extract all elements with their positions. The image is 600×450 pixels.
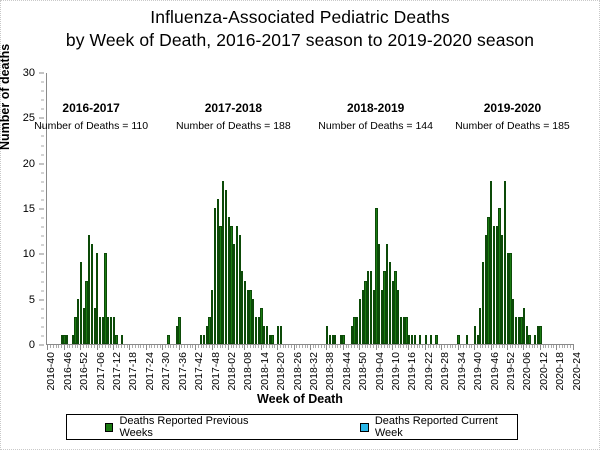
x-tick-mark [127,345,128,348]
x-tick-mark [313,345,314,348]
x-tick-mark [64,345,65,350]
x-tick-mark [403,345,404,348]
season-name: 2016-2017 [11,101,171,115]
y-tick-minor [41,181,44,182]
season-death-count: Number of Deaths = 185 [432,120,592,132]
x-tick-mark [143,345,144,348]
x-tick-mark [220,345,221,348]
x-tick-mark [50,345,51,348]
x-tick-label: 2019-46 [489,352,501,391]
x-tick-mark [340,345,341,348]
x-tick-mark [67,345,68,348]
x-tick-mark [77,345,78,348]
x-tick-mark [537,345,538,348]
x-tick-mark [121,345,122,348]
x-tick-mark [545,345,546,348]
x-tick-mark [430,345,431,348]
y-tick-minor [41,190,44,191]
x-tick-mark [471,345,472,348]
y-tick-label: 15 [23,203,35,215]
x-tick-mark [570,345,571,348]
season-annotation-2017-2018: 2017-2018 Number of Deaths = 188 [153,101,313,132]
bar [539,326,541,344]
x-tick-mark [242,345,243,348]
x-tick-mark [209,345,210,348]
x-tick-mark [502,345,503,348]
x-tick-mark [299,345,300,348]
x-tick-mark [439,345,440,348]
season-name: 2017-2018 [153,101,313,115]
x-tick-mark [266,345,267,348]
x-tick-mark [116,345,117,348]
x-tick-mark [477,345,478,348]
bar [414,335,416,344]
x-tick-label: 2016-40 [45,352,57,391]
bar [167,335,169,344]
x-tick-mark [395,345,396,348]
x-tick-label: 2017-18 [127,352,139,391]
x-tick-mark [447,345,448,348]
x-tick-mark [236,345,237,348]
x-tick-mark [118,345,119,348]
x-tick-mark [272,345,273,348]
season-death-count: Number of Deaths = 188 [153,120,313,132]
x-tick-mark [72,345,73,348]
bar [528,335,530,344]
x-tick-mark [244,345,245,350]
x-tick-mark [146,345,147,350]
x-tick-mark [351,345,352,348]
legend-swatch-green-icon [105,423,113,432]
x-tick-mark [173,345,174,348]
x-tick-mark [228,345,229,350]
x-tick-mark [217,345,218,348]
x-tick-mark [346,345,347,348]
y-tick-minor [41,335,44,336]
x-tick-mark [469,345,470,348]
y-tick-minor [41,145,44,146]
x-tick-mark [261,345,262,350]
x-tick-mark [463,345,464,348]
x-tick-mark [110,345,111,348]
x-tick-mark [91,345,92,348]
x-tick-mark [376,345,377,350]
x-tick-label: 2018-38 [324,352,336,391]
x-tick-mark [337,345,338,348]
x-tick-mark [176,345,177,348]
y-tick-minor [41,172,44,173]
legend-item-current-week: Deaths Reported Current Week [360,415,517,439]
x-tick-label: 2017-24 [144,352,156,391]
chart-title-line2: by Week of Death, 2016-2017 season to 20… [0,29,600,52]
x-tick-mark [387,345,388,348]
x-tick-mark [61,345,62,348]
bar [66,335,68,344]
x-tick-mark [510,345,511,348]
x-tick-mark [291,345,292,348]
x-tick-mark [288,345,289,348]
x-tick-mark [357,345,358,348]
x-tick-mark [529,345,530,348]
bar [466,335,468,344]
x-tick-mark [381,345,382,348]
x-tick-label: 2016-52 [78,352,90,391]
x-tick-mark [310,345,311,350]
x-tick-mark [305,345,306,348]
x-tick-mark [97,345,98,350]
x-tick-mark [113,345,114,350]
x-tick-mark [108,345,109,348]
x-tick-mark [436,345,437,348]
x-tick-mark [480,345,481,348]
chart-legend: Deaths Reported Previous Weeks Deaths Re… [66,414,518,440]
x-tick-label: 2019-40 [472,352,484,391]
y-tick-label: 5 [29,294,35,306]
x-tick-mark [562,345,563,348]
x-tick-mark [274,345,275,348]
y-tick-mark [39,73,44,74]
x-tick-mark [307,345,308,348]
bar [430,335,432,344]
x-tick-label: 2020-12 [538,352,550,391]
x-tick-label: 2017-48 [210,352,222,391]
x-tick-mark [370,345,371,348]
y-tick-minor [41,218,44,219]
x-tick-mark [203,345,204,348]
season-name: 2019-2020 [432,101,592,115]
x-tick-mark [247,345,248,348]
x-tick-mark [105,345,106,348]
x-tick-mark [564,345,565,348]
x-tick-mark [184,345,185,348]
x-tick-mark [88,345,89,348]
x-tick-mark [441,345,442,350]
x-tick-mark [296,345,297,348]
x-tick-mark [548,345,549,348]
x-tick-mark [425,345,426,350]
y-tick-minor [41,290,44,291]
y-tick-mark [39,254,44,255]
x-tick-mark [129,345,130,350]
x-tick-mark [398,345,399,348]
x-tick-mark [373,345,374,348]
x-tick-mark [285,345,286,348]
x-tick-mark [75,345,76,348]
y-tick-mark [39,299,44,300]
x-tick-mark [543,345,544,348]
x-tick-mark [283,345,284,348]
x-tick-mark [466,345,467,348]
x-tick-mark [124,345,125,348]
x-tick-mark [573,345,574,350]
x-tick-mark [326,345,327,350]
x-tick-mark [452,345,453,348]
x-tick-mark [444,345,445,348]
x-tick-label: 2016-46 [62,352,74,391]
y-tick-minor [41,326,44,327]
bar [342,335,344,344]
x-tick-mark [294,345,295,350]
season-annotation-2016-2017: 2016-2017 Number of Deaths = 110 [11,101,171,132]
x-tick-mark [86,345,87,348]
x-tick-mark [406,345,407,348]
bar [334,335,336,344]
x-tick-label: 2017-30 [160,352,172,391]
x-tick-mark [277,345,278,350]
legend-label-previous-weeks: Deaths Reported Previous Weeks [119,415,272,439]
x-tick-label: 2020-18 [554,352,566,391]
x-tick-mark [458,345,459,350]
chart-title: Influenza-Associated Pediatric Deaths by… [0,6,600,52]
y-tick-minor [41,82,44,83]
x-tick-label: 2018-20 [275,352,287,391]
x-tick-mark [365,345,366,348]
x-tick-mark [534,345,535,348]
x-tick-mark [343,345,344,350]
x-tick-label: 2018-14 [259,352,271,391]
x-tick-mark [499,345,500,348]
x-tick-label: 2020-06 [521,352,533,391]
y-tick-minor [41,308,44,309]
bar [425,335,427,344]
x-tick-mark [80,345,81,350]
x-tick-mark [149,345,150,348]
x-tick-mark [455,345,456,348]
x-tick-label: 2018-26 [292,352,304,391]
x-tick-mark [181,345,182,348]
y-tick-minor [41,317,44,318]
x-tick-mark [556,345,557,350]
x-tick-mark [102,345,103,348]
x-tick-mark [280,345,281,348]
x-tick-mark [491,345,492,350]
y-tick-minor [41,227,44,228]
bar [271,335,273,344]
x-tick-mark [507,345,508,350]
x-tick-mark [47,345,48,350]
x-tick-mark [482,345,483,348]
y-tick-minor [41,154,44,155]
x-tick-mark [532,345,533,348]
x-tick-mark [239,345,240,348]
x-tick-mark [138,345,139,348]
y-tick-minor [41,245,44,246]
x-tick-mark [192,345,193,348]
x-tick-mark [504,345,505,348]
x-tick-mark [433,345,434,348]
x-tick-label: 2019-10 [390,352,402,391]
x-tick-mark [474,345,475,350]
x-tick-mark [255,345,256,348]
x-tick-label: 2019-04 [374,352,386,391]
y-tick-mark [39,345,44,346]
x-tick-mark [99,345,100,348]
bar [280,326,282,344]
x-tick-mark [195,345,196,350]
x-tick-label: 2019-16 [406,352,418,391]
x-tick-mark [493,345,494,348]
x-tick-mark [523,345,524,350]
x-tick-mark [160,345,161,348]
x-tick-mark [378,345,379,348]
y-tick-minor [41,199,44,200]
x-tick-mark [559,345,560,348]
x-tick-mark [324,345,325,348]
x-tick-mark [58,345,59,348]
bar [419,335,421,344]
x-tick-label: 2017-06 [95,352,107,391]
x-tick-mark [384,345,385,348]
x-tick-mark [253,345,254,348]
x-tick-mark [258,345,259,348]
x-tick-mark [512,345,513,348]
x-tick-mark [179,345,180,350]
x-tick-mark [567,345,568,348]
x-tick-mark [321,345,322,348]
x-tick-mark [94,345,95,348]
x-tick-label: 2018-08 [242,352,254,391]
x-tick-mark [132,345,133,348]
x-tick-mark [250,345,251,348]
x-tick-mark [168,345,169,348]
x-tick-mark [348,345,349,348]
x-tick-mark [515,345,516,348]
x-tick-label: 2019-22 [423,352,435,391]
x-tick-mark [56,345,57,348]
x-tick-mark [408,345,409,350]
x-tick-mark [329,345,330,348]
y-tick-label: 20 [23,158,35,170]
legend-item-previous-weeks: Deaths Reported Previous Weeks [105,415,272,439]
x-tick-mark [521,345,522,348]
bar [178,317,180,344]
x-tick-mark [170,345,171,348]
bar [121,335,123,344]
y-tick-label: 0 [29,339,35,351]
y-tick-label: 10 [23,248,35,260]
x-tick-label: 2018-50 [357,352,369,391]
legend-label-current-week: Deaths Reported Current Week [375,415,517,439]
legend-swatch-blue-icon [360,423,368,432]
x-tick-label: 2019-28 [439,352,451,391]
x-tick-mark [206,345,207,348]
x-tick-label: 2018-44 [341,352,353,391]
season-death-count: Number of Deaths = 110 [11,120,171,132]
x-tick-label: 2019-52 [505,352,517,391]
y-tick-minor [41,281,44,282]
x-tick-mark [154,345,155,348]
x-tick-mark [359,345,360,350]
x-tick-mark [419,345,420,348]
x-tick-label: 2018-32 [308,352,320,391]
x-tick-mark [222,345,223,348]
x-axis-title: Week of Death [0,392,600,406]
x-tick-mark [157,345,158,348]
x-tick-mark [190,345,191,348]
x-tick-mark [389,345,390,348]
x-tick-mark [400,345,401,348]
x-tick-mark [212,345,213,350]
x-tick-mark [332,345,333,348]
y-tick-minor [41,272,44,273]
y-tick-label: 30 [23,67,35,79]
x-tick-mark [485,345,486,348]
x-tick-mark [411,345,412,348]
y-tick-minor [41,263,44,264]
y-tick-mark [39,163,44,164]
x-tick-mark [83,345,84,348]
x-tick-mark [335,345,336,348]
x-tick-mark [526,345,527,348]
x-tick-mark [414,345,415,348]
x-tick-mark [162,345,163,350]
bar [435,335,437,344]
x-tick-mark [417,345,418,348]
x-tick-label: 2017-36 [177,352,189,391]
x-tick-mark [518,345,519,348]
x-tick-mark [354,345,355,348]
x-tick-mark [392,345,393,350]
x-tick-mark [165,345,166,348]
y-tick-mark [39,209,44,210]
x-tick-mark [551,345,552,348]
x-tick-label: 2019-34 [456,352,468,391]
x-tick-label: 2017-12 [111,352,123,391]
x-tick-mark [460,345,461,348]
x-tick-mark [231,345,232,348]
x-tick-mark [69,345,70,348]
x-tick-mark [225,345,226,348]
x-tick-mark [450,345,451,348]
x-tick-mark [540,345,541,350]
y-tick-minor [41,236,44,237]
x-tick-mark [135,345,136,348]
x-tick-mark [140,345,141,348]
x-tick-mark [488,345,489,348]
x-tick-mark [214,345,215,348]
x-tick-mark [233,345,234,348]
x-tick-mark [53,345,54,348]
x-tick-mark [302,345,303,348]
x-tick-mark [422,345,423,348]
x-tick-label: 2018-02 [226,352,238,391]
x-tick-mark [496,345,497,348]
x-tick-mark [263,345,264,348]
x-tick-label: 2020-24 [571,352,583,391]
bar [115,335,117,344]
season-annotation-2019-2020: 2019-2020 Number of Deaths = 185 [432,101,592,132]
x-tick-mark [553,345,554,348]
y-tick-minor [41,91,44,92]
x-tick-mark [187,345,188,348]
x-tick-mark [315,345,316,348]
chart-title-line1: Influenza-Associated Pediatric Deaths [0,6,600,29]
x-tick-mark [201,345,202,348]
x-tick-mark [198,345,199,348]
x-tick-mark [151,345,152,348]
y-tick-minor [41,136,44,137]
x-tick-label: 2017-42 [193,352,205,391]
x-tick-mark [269,345,270,348]
x-tick-mark [367,345,368,348]
x-tick-mark [428,345,429,348]
x-tick-mark [362,345,363,348]
bar [457,335,459,344]
x-tick-mark [318,345,319,348]
